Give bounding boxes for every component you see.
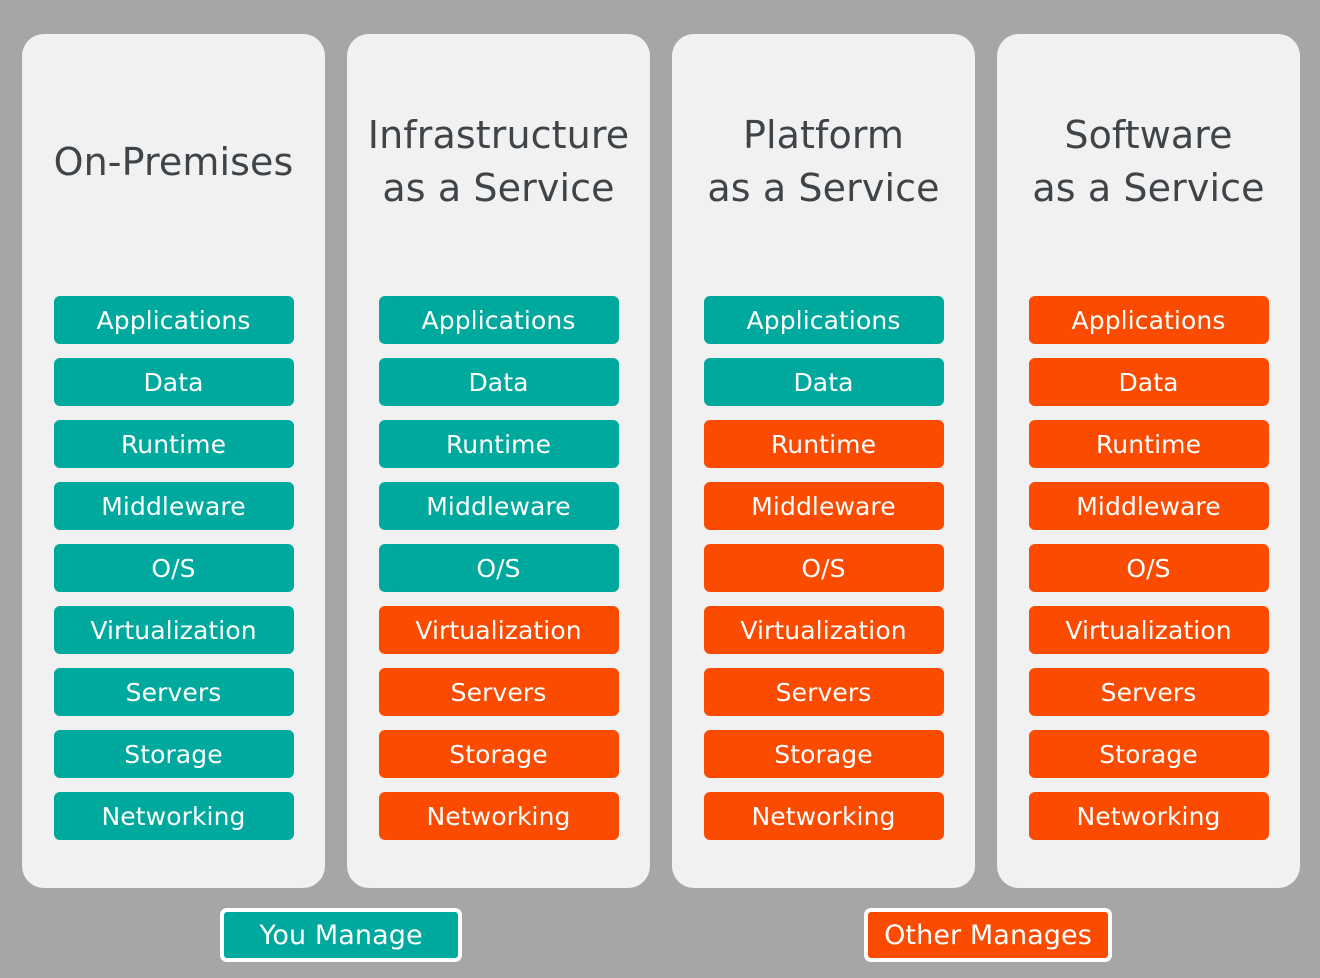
- service-model-columns: On-PremisesApplicationsDataRuntimeMiddle…: [22, 34, 1300, 888]
- column-title-infrastructure-as-a-service: Infrastructureas a Service: [347, 34, 650, 296]
- stack-row[interactable]: Networking: [1029, 792, 1269, 840]
- stack-row[interactable]: Data: [704, 358, 944, 406]
- stack-row[interactable]: Applications: [1029, 296, 1269, 344]
- column-title-platform-as-a-service: Platformas a Service: [672, 34, 975, 296]
- column-title-line: as a Service: [1032, 162, 1264, 215]
- stack-row[interactable]: Servers: [379, 668, 619, 716]
- column-title-line: Platform: [743, 109, 904, 162]
- stack-row[interactable]: Virtualization: [704, 606, 944, 654]
- stack-row[interactable]: Networking: [704, 792, 944, 840]
- stack-row[interactable]: Runtime: [379, 420, 619, 468]
- stack-row[interactable]: Servers: [54, 668, 294, 716]
- stack-software-as-a-service: ApplicationsDataRuntimeMiddlewareO/SVirt…: [1029, 296, 1269, 840]
- column-title-on-premises: On-Premises: [22, 34, 325, 296]
- stack-row[interactable]: Networking: [379, 792, 619, 840]
- stack-row[interactable]: Middleware: [704, 482, 944, 530]
- stack-row[interactable]: Middleware: [54, 482, 294, 530]
- stack-platform-as-a-service: ApplicationsDataRuntimeMiddlewareO/SVirt…: [704, 296, 944, 840]
- stack-row[interactable]: O/S: [704, 544, 944, 592]
- column-title-line: Infrastructure: [368, 109, 629, 162]
- stack-row[interactable]: Applications: [379, 296, 619, 344]
- stack-row[interactable]: O/S: [379, 544, 619, 592]
- stack-row[interactable]: Networking: [54, 792, 294, 840]
- column-software-as-a-service[interactable]: Softwareas a ServiceApplicationsDataRunt…: [997, 34, 1300, 888]
- stack-row[interactable]: Runtime: [54, 420, 294, 468]
- stack-row[interactable]: Data: [1029, 358, 1269, 406]
- stack-row[interactable]: Data: [379, 358, 619, 406]
- stack-row[interactable]: Storage: [1029, 730, 1269, 778]
- column-title-line: as a Service: [707, 162, 939, 215]
- stack-row[interactable]: Middleware: [1029, 482, 1269, 530]
- stack-infrastructure-as-a-service: ApplicationsDataRuntimeMiddlewareO/SVirt…: [379, 296, 619, 840]
- stack-on-premises: ApplicationsDataRuntimeMiddlewareO/SVirt…: [54, 296, 294, 840]
- legend: You Manage Other Manages: [0, 908, 1320, 978]
- column-title-line: On-Premises: [54, 136, 294, 189]
- stack-row[interactable]: Storage: [379, 730, 619, 778]
- stack-row[interactable]: Virtualization: [54, 606, 294, 654]
- stack-row[interactable]: Applications: [704, 296, 944, 344]
- column-title-line: Software: [1064, 109, 1232, 162]
- column-platform-as-a-service[interactable]: Platformas a ServiceApplicationsDataRunt…: [672, 34, 975, 888]
- stack-row[interactable]: Servers: [1029, 668, 1269, 716]
- stack-row[interactable]: Runtime: [1029, 420, 1269, 468]
- legend-you-manage: You Manage: [220, 908, 462, 962]
- stack-row[interactable]: Virtualization: [379, 606, 619, 654]
- column-title-line: as a Service: [382, 162, 614, 215]
- stack-row[interactable]: Storage: [54, 730, 294, 778]
- stack-row[interactable]: Storage: [704, 730, 944, 778]
- column-on-premises[interactable]: On-PremisesApplicationsDataRuntimeMiddle…: [22, 34, 325, 888]
- stack-row[interactable]: Applications: [54, 296, 294, 344]
- stack-row[interactable]: Servers: [704, 668, 944, 716]
- saas-responsibility-diagram: On-PremisesApplicationsDataRuntimeMiddle…: [0, 0, 1320, 978]
- stack-row[interactable]: Data: [54, 358, 294, 406]
- column-infrastructure-as-a-service[interactable]: Infrastructureas a ServiceApplicationsDa…: [347, 34, 650, 888]
- stack-row[interactable]: Middleware: [379, 482, 619, 530]
- column-title-software-as-a-service: Softwareas a Service: [997, 34, 1300, 296]
- stack-row[interactable]: Runtime: [704, 420, 944, 468]
- stack-row[interactable]: O/S: [1029, 544, 1269, 592]
- legend-other-manages: Other Manages: [864, 908, 1112, 962]
- stack-row[interactable]: O/S: [54, 544, 294, 592]
- stack-row[interactable]: Virtualization: [1029, 606, 1269, 654]
